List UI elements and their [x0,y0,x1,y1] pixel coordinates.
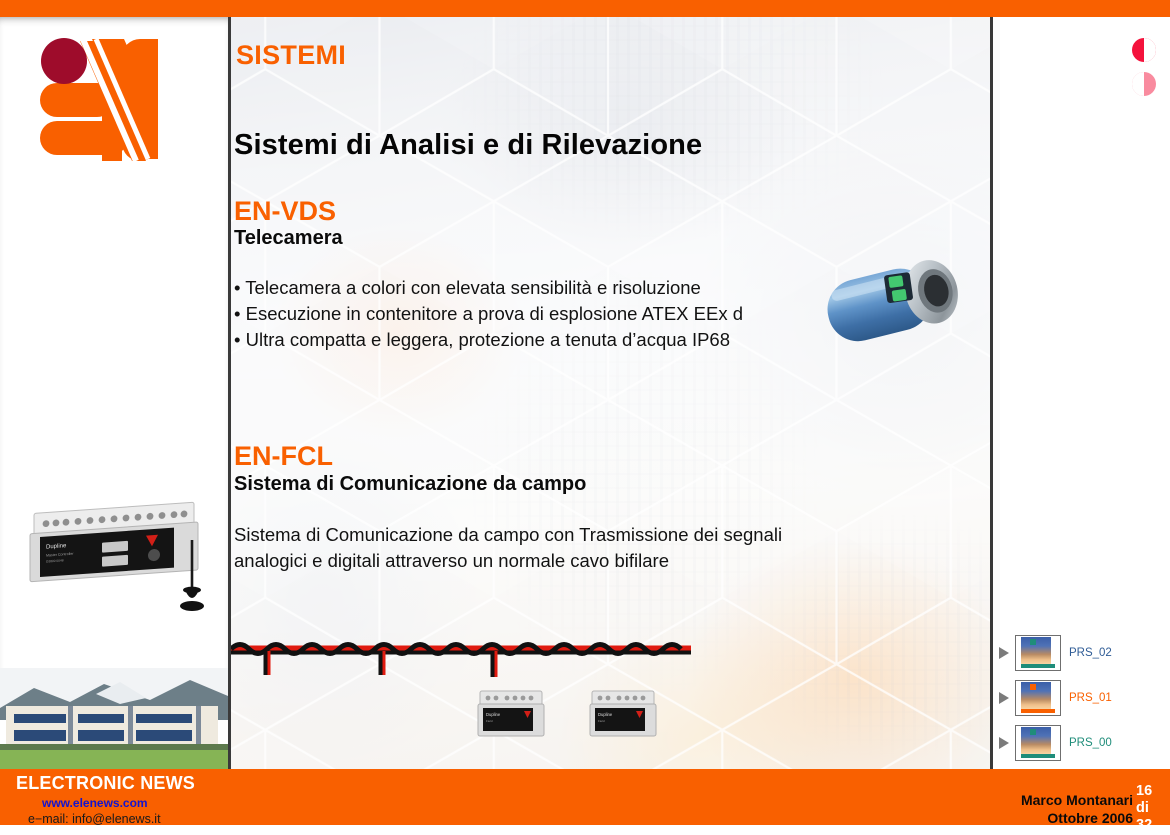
footer-date: Ottobre 2006 [993,809,1133,827]
product-subtitle-en-fcl: Sistema di Comunicazione da campo [234,473,586,496]
slide-nav-controls[interactable] [1130,36,1160,108]
thumbnail-label[interactable]: PRS_00 [1069,737,1112,749]
next-slide-icon[interactable] [1130,70,1158,98]
thumbnail-preview[interactable] [1015,635,1061,671]
page-indicator: 16 di 32 [1136,784,1166,835]
play-triangle-icon[interactable] [999,647,1009,659]
thumbnail-label[interactable]: PRS_02 [1069,647,1112,659]
bullet-item: • Esecuzione in contenitore a prova di e… [234,301,743,327]
company-logo-en [36,35,158,165]
thumbnail-preview[interactable] [1015,680,1061,716]
previous-slide-icon[interactable] [1130,36,1158,64]
top-accent-bar [0,0,1170,17]
slide-thumbnail-list[interactable]: PRS_02 PRS_01 PRS_00 [995,630,1170,765]
page-current: 16 [1136,784,1166,798]
page-total: 32 [1136,818,1166,832]
thumbnail-accent-bar [1021,754,1055,758]
dupline-field-module-photo: Dupline Field [474,683,550,745]
thumbnail-item[interactable]: PRS_00 [995,720,1170,765]
product-bullets-en-vds: • Telecamera a colori con elevata sensib… [234,275,743,353]
footer-brand: ELECTRONIC NEWS [16,773,195,794]
thumbnail-accent-bar [1021,709,1055,713]
svg-text:Field: Field [598,719,605,723]
product-body-en-fcl: Sistema di Comunicazione da campo con Tr… [234,522,794,573]
footer-author-block: Marco Montanari Ottobre 2006 [993,791,1133,827]
thumbnail-item[interactable]: PRS_02 [995,630,1170,675]
play-triangle-icon[interactable] [999,737,1009,749]
svg-text:Field: Field [486,719,493,723]
thumbnail-image [1021,637,1051,667]
thumbnail-accent-chip [1030,684,1036,690]
explosion-proof-camera-photo [821,247,976,357]
play-triangle-icon[interactable] [999,692,1009,704]
product-code-en-vds: EN-VDS [234,196,336,227]
thumbnail-item[interactable]: PRS_01 [995,675,1170,720]
slide-kicker: SISTEMI [236,40,346,71]
product-subtitle-en-vds: Telecamera [234,227,343,250]
bullet-item: • Ultra compatta e leggera, protezione a… [234,327,743,353]
footer-bar: ELECTRONIC NEWS www.elenews.com e−mail: … [0,769,1170,825]
svg-text:Dupline: Dupline [486,712,501,717]
dupline-field-module-photo: Dupline Field [586,683,662,745]
svg-text:Dupline: Dupline [598,712,613,717]
antenna-photo [178,540,208,612]
presentation-viewer: SISTEMI Sistemi di Analisi e di Rilevazi… [0,0,1170,825]
thumbnail-label[interactable]: PRS_01 [1069,692,1112,704]
slide-title: Sistemi di Analisi e di Rilevazione [234,129,702,162]
thumbnail-preview[interactable] [1015,725,1061,761]
page-of-label: di [1136,801,1166,815]
bullet-item: • Telecamera a colori con elevata sensib… [234,275,743,301]
left-panel [0,17,228,769]
slide-canvas[interactable]: SISTEMI Sistemi di Analisi e di Rilevazi… [228,17,993,769]
company-building-photo [0,668,228,769]
thumbnail-accent-bar [1021,664,1055,668]
thumbnail-accent-chip [1030,639,1036,645]
footer-author-name: Marco Montanari [993,791,1133,809]
product-code-en-fcl: EN-FCL [234,441,333,472]
footer-website-link[interactable]: www.elenews.com [42,796,148,810]
thumbnail-accent-chip [1030,729,1036,735]
footer-email[interactable]: e−mail: info@elenews.it [28,812,161,826]
thumbnail-image [1021,727,1051,757]
thumbnail-image [1021,682,1051,712]
